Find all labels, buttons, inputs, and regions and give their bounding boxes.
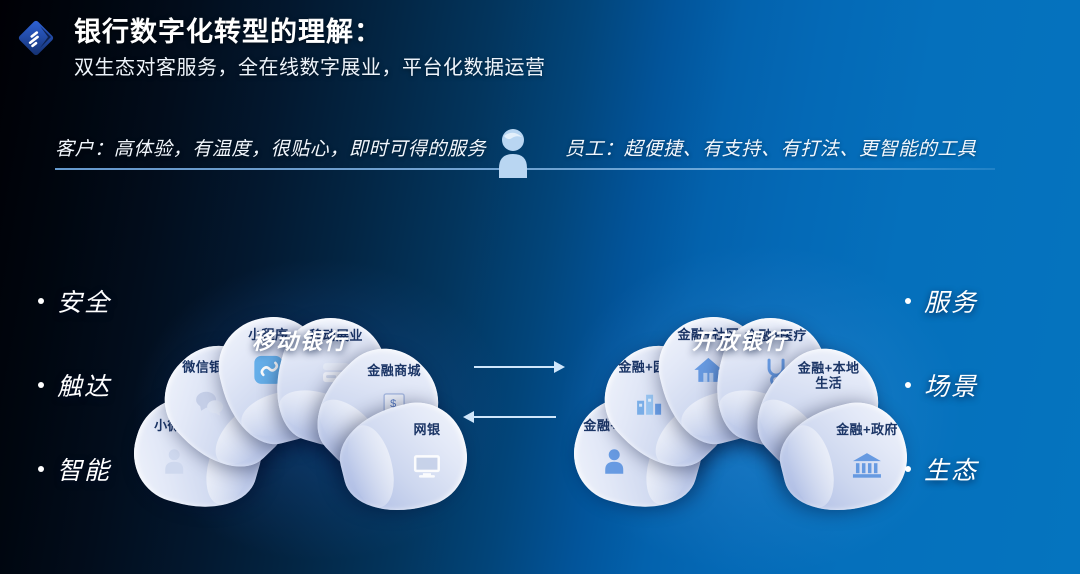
bullet-label: 生态 xyxy=(924,451,978,487)
government-bank-icon xyxy=(850,449,884,483)
petal-label: 金融+政府 xyxy=(836,422,898,437)
buildings-icon xyxy=(632,386,666,420)
cluster-center-label-mobile: 移动银行 xyxy=(100,324,500,356)
page-subtitle: 双生态对客服务，全在线数字展业，平台化数据运营 xyxy=(74,56,546,81)
bullet-right-0: 服务 xyxy=(905,283,1045,319)
bullets-left: 安全触达智能 xyxy=(38,283,178,535)
petal-content: 网银 xyxy=(375,422,479,482)
cluster-flow-arrows xyxy=(470,358,575,434)
bullet-dot-icon xyxy=(905,382,911,388)
bullet-dot-icon xyxy=(38,298,44,304)
bullet-dot-icon xyxy=(905,298,911,304)
bullet-label: 服务 xyxy=(924,283,978,319)
bullet-label: 安全 xyxy=(57,283,111,319)
customer-value-text: 客户：高体验，有温度，很贴心，即时可得的服务 xyxy=(55,134,486,161)
employee-value-text: 员工：超便捷、有支持、有打法、更智能的工具 xyxy=(565,134,977,161)
bullet-left-2: 智能 xyxy=(38,451,178,487)
page-title: 银行数字化转型的理解： xyxy=(74,16,546,49)
bullet-label: 智能 xyxy=(57,451,111,487)
cluster-open-bank: 金融+教育 金融+园区 金融+社区 金融+医疗 金融+本地 生活 xyxy=(540,212,940,542)
petal-label: 金融商城 xyxy=(367,363,421,378)
bullet-left-1: 触达 xyxy=(38,367,178,403)
chat-bubble-icon xyxy=(192,386,226,420)
cluster-center-label-open: 开放银行 xyxy=(540,324,940,356)
bullet-label: 触达 xyxy=(57,367,111,403)
petal-label: 网银 xyxy=(414,422,441,437)
monitor-icon xyxy=(410,449,444,483)
bullet-right-2: 生态 xyxy=(905,451,1045,487)
petal-label: 金融+本地 生活 xyxy=(798,361,860,392)
slide-header: 银行数字化转型的理解： 双生态对客服务，全在线数字展业，平台化数据运营 xyxy=(18,14,546,81)
bullet-dot-icon xyxy=(905,466,911,472)
bullet-dot-icon xyxy=(38,466,44,472)
diamond-logo-icon xyxy=(18,20,60,62)
bullets-right: 服务场景生态 xyxy=(905,283,1045,535)
slide-canvas: 银行数字化转型的理解： 双生态对客服务，全在线数字展业，平台化数据运营 客户：高… xyxy=(0,0,1080,574)
person-avatar-icon xyxy=(488,126,538,178)
bullet-label: 场景 xyxy=(924,367,978,403)
bullet-dot-icon xyxy=(38,382,44,388)
bullet-left-0: 安全 xyxy=(38,283,178,319)
petal-content: 金融+政府 xyxy=(815,422,919,482)
education-person-icon xyxy=(597,444,631,478)
audience-band: 客户：高体验，有温度，很贴心，即时可得的服务 员工：超便捷、有支持、有打法、更智… xyxy=(0,124,1080,186)
bullet-right-1: 场景 xyxy=(905,367,1045,403)
